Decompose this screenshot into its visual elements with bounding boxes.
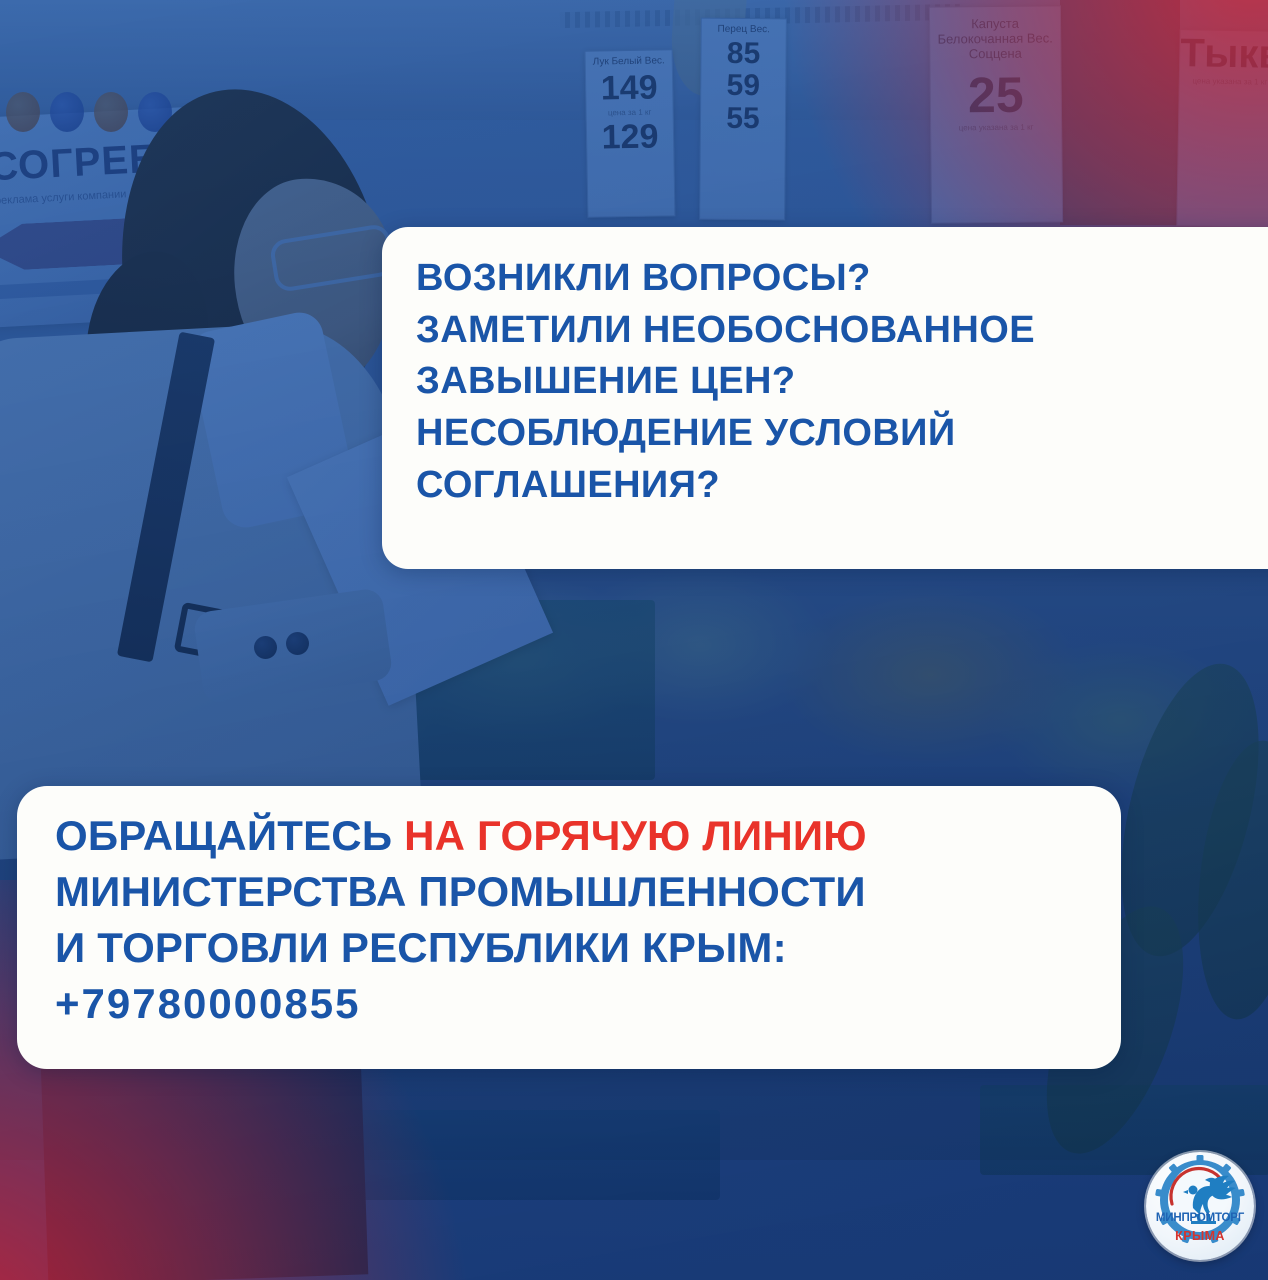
background-photo: СОГРЕЕ реклама услуги компании Лук Белый… bbox=[0, 0, 1268, 1280]
questions-card: ВОЗНИКЛИ ВОПРОСЫ? ЗАМЕТИЛИ НЕОБОСНОВАННО… bbox=[382, 227, 1268, 569]
hotline-card: ОБРАЩАЙТЕСЬ НА ГОРЯЧУЮ ЛИНИЮ МИНИСТЕРСТВ… bbox=[17, 786, 1121, 1069]
griffin-gear-icon bbox=[1146, 1152, 1254, 1260]
questions-line-1: ВОЗНИКЛИ ВОПРОСЫ? bbox=[416, 253, 1268, 305]
questions-line-5: СОГЛАШЕНИЯ? bbox=[416, 460, 1268, 512]
questions-line-2: ЗАМЕТИЛИ НЕОБОСНОВАННОЕ bbox=[416, 305, 1268, 357]
logo-line-1: МИНПРОМТОРГ bbox=[1146, 1212, 1254, 1224]
poster-canvas: СОГРЕЕ реклама услуги компании Лук Белый… bbox=[0, 0, 1268, 1280]
hotline-phone-number[interactable]: +79780000855 bbox=[55, 976, 1087, 1032]
hotline-line-2: МИНИСТЕРСТВА ПРОМЫШЛЕННОСТИ bbox=[55, 864, 1087, 920]
questions-line-3: ЗАВЫШЕНИЕ ЦЕН? bbox=[416, 356, 1268, 408]
hotline-highlight: НА ГОРЯЧУЮ ЛИНИЮ bbox=[404, 812, 867, 859]
hotline-line-1: ОБРАЩАЙТЕСЬ НА ГОРЯЧУЮ ЛИНИЮ bbox=[55, 808, 1087, 864]
questions-line-4: НЕСОБЛЮДЕНИЕ УСЛОВИЙ bbox=[416, 408, 1268, 460]
hotline-line-3: И ТОРГОВЛИ РЕСПУБЛИКИ КРЫМ: bbox=[55, 920, 1087, 976]
logo-line-2: КРЫМА bbox=[1146, 1229, 1254, 1243]
minpromtorg-logo: МИНПРОМТОРГ КРЫМА bbox=[1146, 1152, 1254, 1260]
hotline-line-1-prefix: ОБРАЩАЙТЕСЬ bbox=[55, 812, 404, 859]
